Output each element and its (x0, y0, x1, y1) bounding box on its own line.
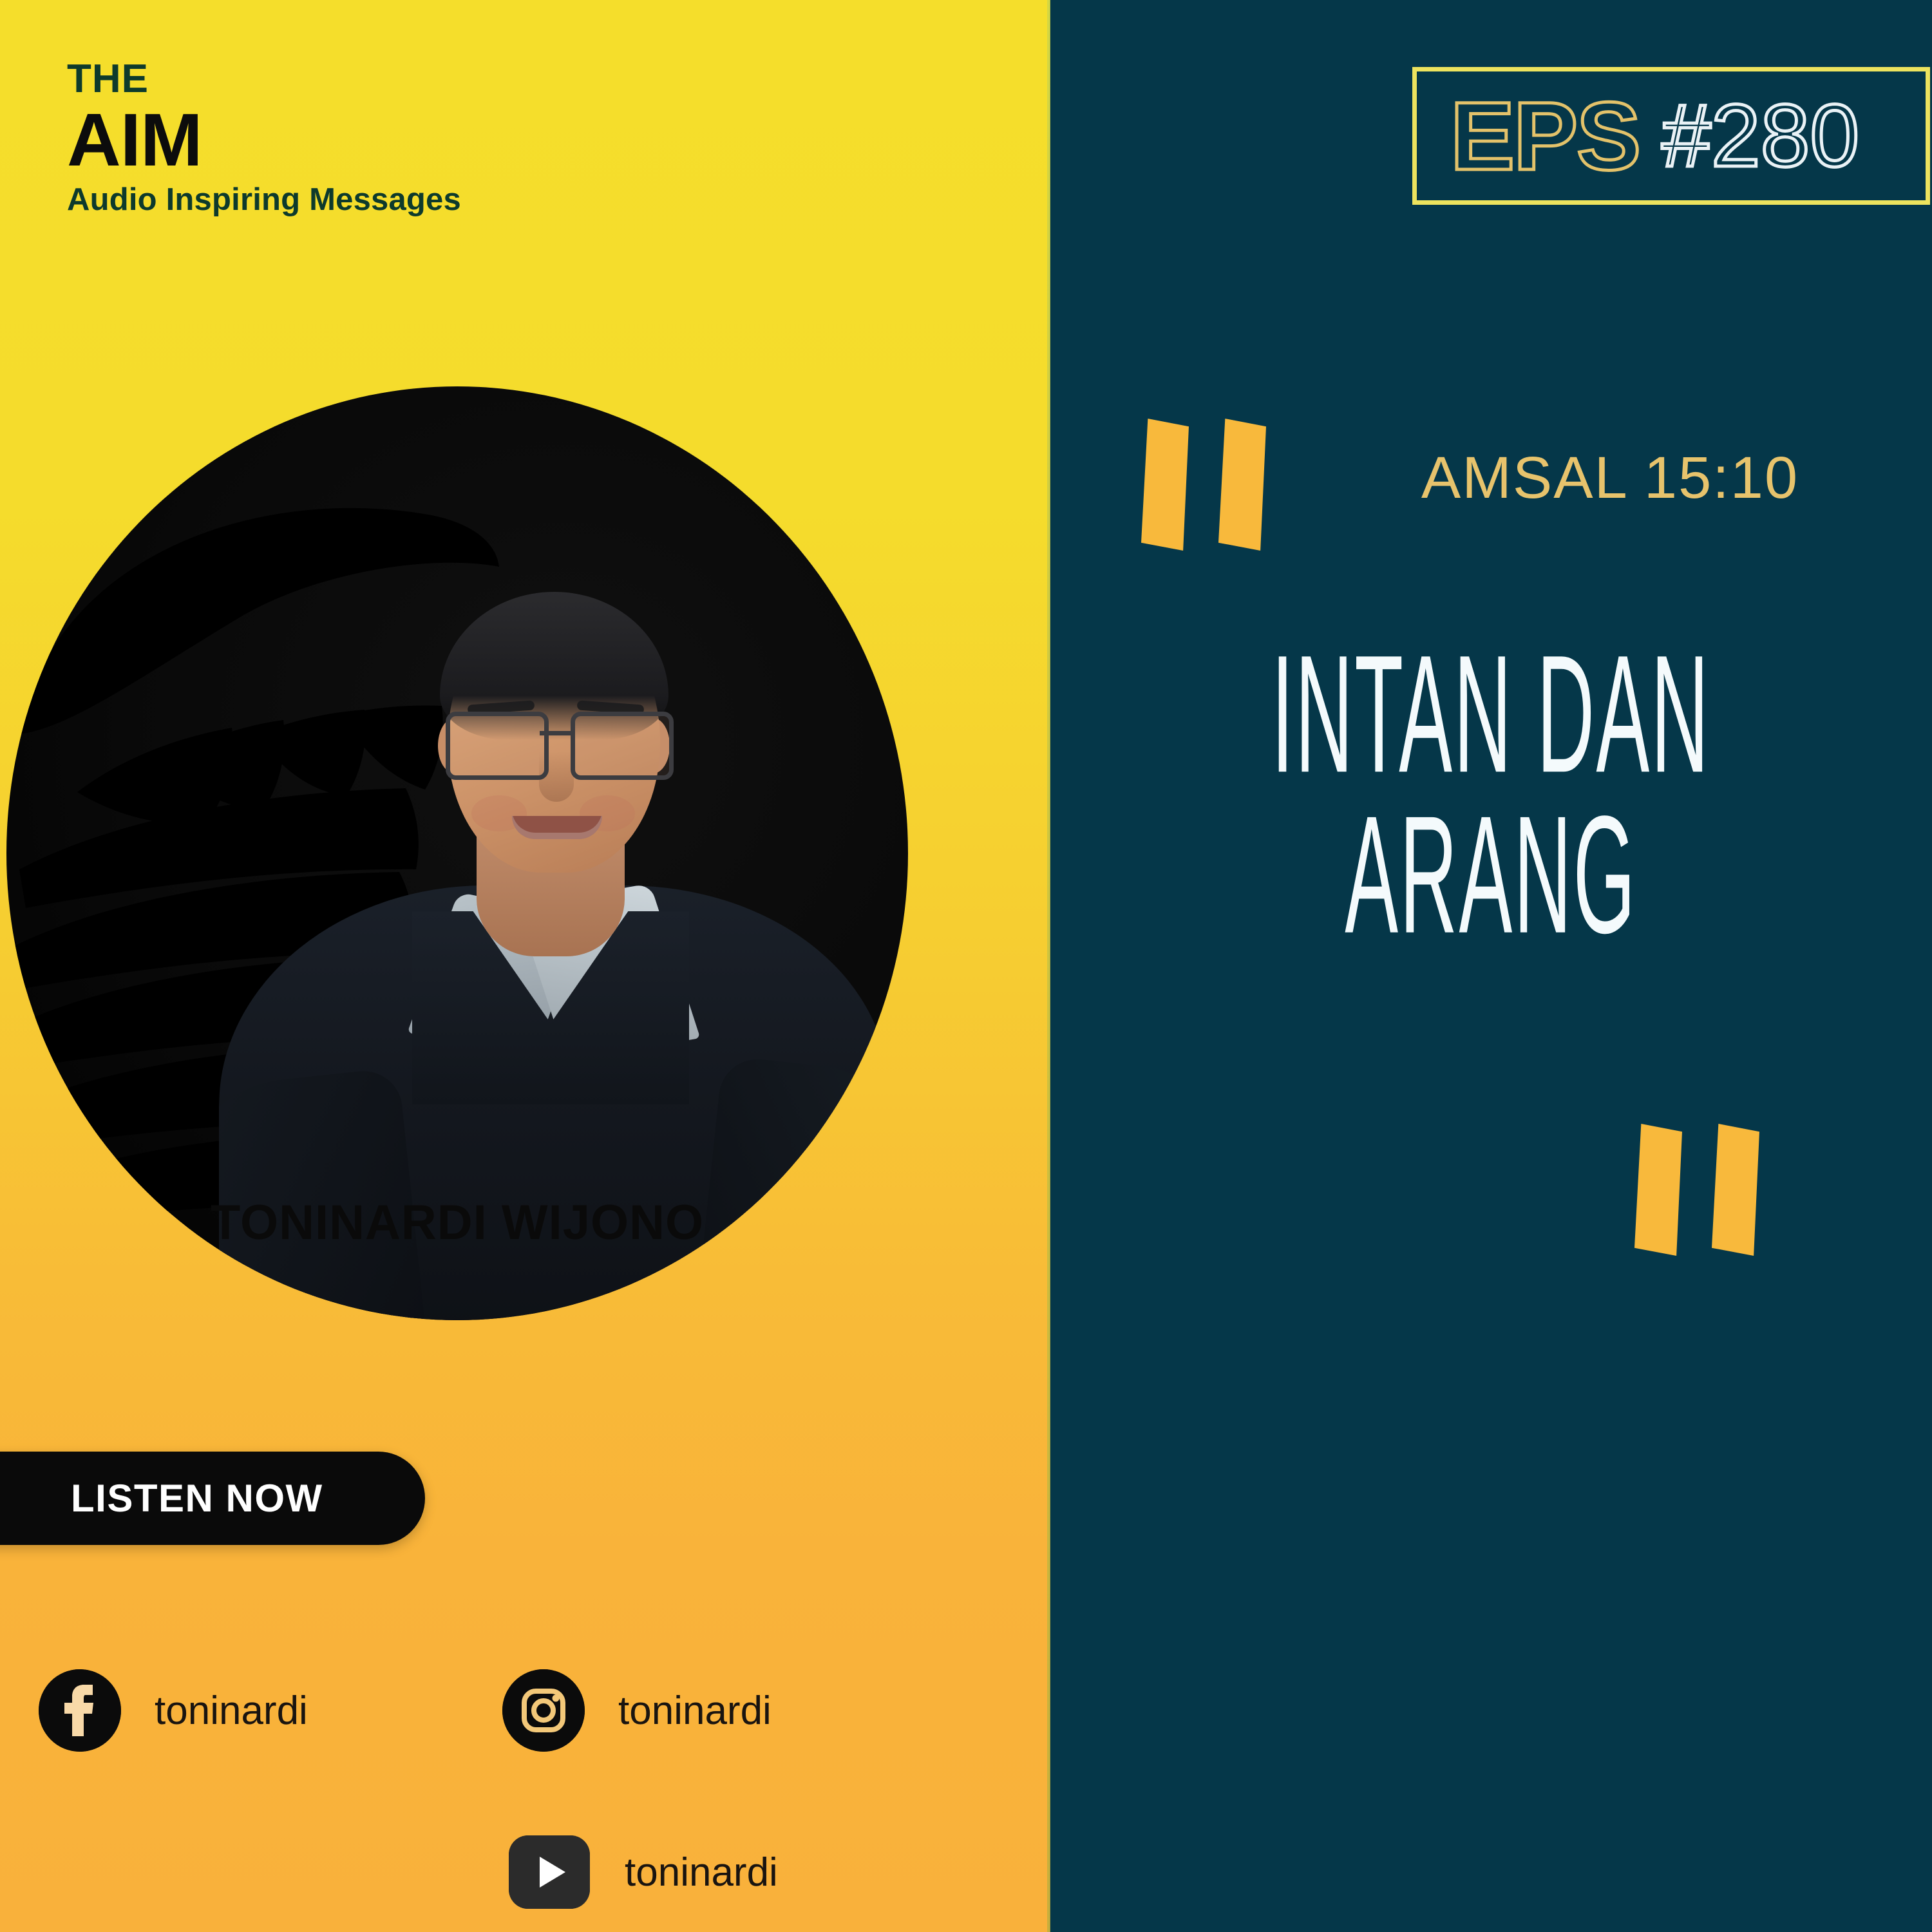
listen-now-label: LISTEN NOW (71, 1476, 323, 1520)
episode-title: INTAN DAN ARANG (1245, 634, 1737, 956)
brand-tagline: Audio Inspiring Messages (67, 184, 461, 216)
verse-reference: AMSAL 15:10 (1327, 444, 1893, 512)
photo-smile (512, 816, 602, 839)
glasses-icon (446, 712, 665, 771)
quote-open-icon (1141, 419, 1189, 551)
facebook-handle: toninardi (155, 1688, 308, 1734)
social-link-instagram[interactable]: toninardi (502, 1669, 772, 1752)
youtube-handle: toninardi (625, 1850, 778, 1895)
photo-arm-left (219, 1067, 425, 1320)
host-portrait (6, 386, 908, 1320)
quote-close-icon (1634, 1124, 1682, 1256)
social-link-youtube[interactable]: toninardi (509, 1835, 778, 1909)
social-link-facebook[interactable]: toninardi (39, 1669, 308, 1752)
episode-badge-word: EPS (1450, 88, 1640, 184)
glasses-lens-right (571, 712, 674, 780)
host-name: TONINARDI WIJONO (6, 1195, 908, 1251)
glasses-bridge (540, 731, 571, 735)
brand-aim-text: AIM (67, 102, 461, 178)
brand-logo: THE AIM Audio Inspiring Messages (67, 59, 461, 216)
listen-now-button[interactable]: LISTEN NOW (0, 1452, 425, 1545)
brand-the-text: THE (67, 59, 461, 99)
portrait-circle (6, 386, 908, 1320)
episode-badge: EPS #280 (1412, 67, 1930, 205)
instagram-icon (502, 1669, 585, 1752)
youtube-icon (509, 1835, 590, 1909)
quote-close-icon (1712, 1124, 1759, 1256)
podcast-cover-artwork: THE AIM Audio Inspiring Messages (0, 0, 1932, 1932)
quote-open-icon (1218, 419, 1266, 551)
glasses-lens-left (446, 712, 549, 780)
instagram-handle: toninardi (618, 1688, 772, 1734)
photo-arm-right (695, 1056, 908, 1320)
facebook-icon (39, 1669, 121, 1752)
panel-divider (1047, 0, 1050, 1932)
episode-badge-number: #280 (1662, 91, 1859, 180)
